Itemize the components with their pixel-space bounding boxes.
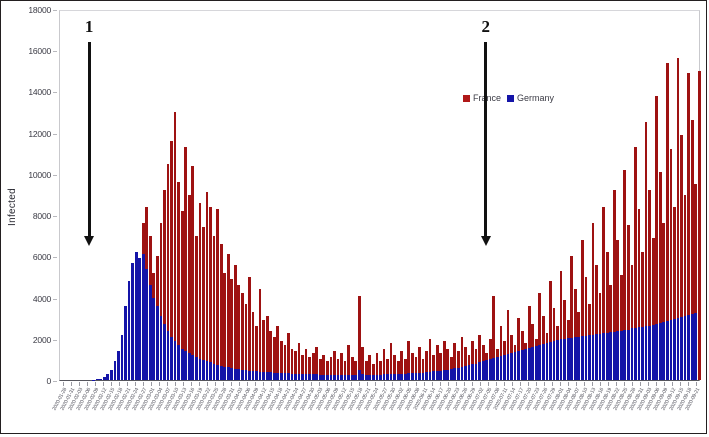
bar-germany [478,362,481,380]
bar-group [209,9,212,380]
bar-france [234,265,237,380]
x-tick-mark-icon [295,382,296,386]
bar-germany [96,379,99,380]
bar-group [581,9,584,380]
bar-germany [475,364,478,380]
bar-group [627,9,630,380]
bar-group [687,9,690,380]
bar-group [623,9,626,380]
bar-germany [634,328,637,380]
bar-group [163,9,166,380]
bar-germany [425,372,428,380]
bar-germany [595,334,598,380]
legend-swatch-germany-icon [507,95,514,102]
x-tick-mark-icon [576,382,577,386]
bar-group [110,9,113,380]
bar-germany [588,335,591,380]
x-tick-mark-icon [568,382,569,386]
plot-area: France Germany [59,10,700,381]
bar-group [631,9,634,380]
bar-group [376,9,379,380]
bar-group [588,9,591,380]
bar-germany [237,369,240,380]
bar-germany [234,369,237,380]
bar-group [255,9,258,380]
bar-group [659,9,662,380]
annotation-number: 1 [69,18,109,35]
bar-group [372,9,375,380]
bar-germany [206,361,209,380]
bar-group [407,9,410,380]
x-tick-mark-icon [624,382,625,386]
bar-germany [528,348,531,380]
bar-group [368,9,371,380]
bar-group [301,9,304,380]
y-tick-6000: 6000 [33,252,51,262]
bar-group [648,9,651,380]
bar-group [662,9,665,380]
bar-group [585,9,588,380]
bar-germany [549,342,552,380]
bar-germany [347,375,350,380]
x-tick-mark-icon [303,382,304,386]
bar-germany [266,372,269,380]
x-tick-mark-icon [95,382,96,386]
x-tick-mark-icon [656,382,657,386]
bar-germany [227,367,230,380]
bar-germany [248,371,251,380]
x-tick-mark-icon [512,382,513,386]
bar-group [595,9,598,380]
bar-group [691,9,694,380]
bar-group [670,9,673,380]
bar-group [284,9,287,380]
legend-item-germany: Germany [507,93,554,103]
bar-germany [269,372,272,380]
bar-group [160,9,163,380]
y-tick-mark-icon [53,216,57,217]
bar-germany [553,341,556,380]
bar-germany [273,373,276,380]
bar-germany [312,374,315,380]
bar-germany [592,335,595,380]
x-tick-mark-icon [135,382,136,386]
annotation-number: 2 [466,18,506,35]
bar-germany [252,371,255,380]
bar-germany [386,374,389,380]
bar-france [241,293,244,380]
x-tick-mark-icon [159,382,160,386]
y-tick-18000: 18000 [28,5,51,15]
bar-group [202,9,205,380]
bar-group [220,9,223,380]
bar-group [287,9,290,380]
x-tick-mark-icon [223,382,224,386]
bar-group [305,9,308,380]
bar-group [121,9,124,380]
bar-germany [241,370,244,380]
bar-group [142,9,145,380]
x-tick-mark-icon [600,382,601,386]
bar-france [199,203,202,380]
bar-germany [623,330,626,380]
bar-germany [209,362,212,380]
bar-group [528,9,531,380]
bar-group [680,9,683,380]
bar-germany [496,357,499,380]
bar-germany [156,306,159,380]
bar-group [546,9,549,380]
x-tick-mark-icon [239,382,240,386]
bar-germany [230,368,233,380]
bar-group [521,9,524,380]
bar-germany [446,370,449,380]
x-tick-mark-icon [215,382,216,386]
bar-group [351,9,354,380]
bar-germany [691,314,694,380]
bar-france [237,285,240,380]
bar-group [450,9,453,380]
x-tick-mark-icon [680,382,681,386]
bar-germany [170,337,173,380]
bar-germany [216,365,219,380]
x-tick-mark-icon [79,382,80,386]
bar-group [436,9,439,380]
bar-group [354,9,357,380]
bar-group [634,9,637,380]
bar-group [273,9,276,380]
bar-germany [142,254,145,380]
bar-group [549,9,552,380]
y-tick-2000: 2000 [33,335,51,345]
bar-group [337,9,340,380]
bar-group [259,9,262,380]
bar-germany [103,377,106,380]
bar-germany [199,359,202,380]
bar-group [234,9,237,380]
bar-group [641,9,644,380]
bar-group [613,9,616,380]
bar-group [167,9,170,380]
bar-group [276,9,279,380]
bar-germany [117,351,120,380]
x-tick-mark-icon [327,382,328,386]
bar-group [152,9,155,380]
bar-germany [344,375,347,380]
y-tick-16000: 16000 [28,46,51,56]
bar-germany [315,374,318,380]
x-tick-mark-icon [335,382,336,386]
bar-group [507,9,510,380]
bar-germany [365,375,368,380]
bar-group [538,9,541,380]
bar-group [397,9,400,380]
bar-group [213,9,216,380]
bar-germany [121,335,124,380]
bar-germany [531,347,534,380]
x-tick-mark-icon [199,382,200,386]
bar-france [248,277,251,380]
bar-germany [535,346,538,380]
x-tick-mark-icon [520,382,521,386]
bar-germany [259,372,262,380]
bar-germany [354,375,357,380]
bar-group [241,9,244,380]
x-tick-mark-icon [488,382,489,386]
bar-germany [666,321,669,380]
x-tick-mark-icon [71,382,72,386]
bar-group [609,9,612,380]
bar-france [698,71,701,380]
x-tick-mark-icon [271,382,272,386]
bar-germany [404,374,407,380]
bar-group [645,9,648,380]
bar-germany [457,368,460,380]
bar-germany [319,375,322,380]
bar-germany [492,358,495,380]
bar-group [245,9,248,380]
bar-group [684,9,687,380]
bar-group [461,9,464,380]
bar-group [400,9,403,380]
bar-germany [301,374,304,380]
bar-group [602,9,605,380]
annotation-marker-2: 2 [466,18,506,237]
bar-group [439,9,442,380]
bar-germany [521,350,524,380]
bar-group [60,9,63,380]
bar-group [616,9,619,380]
bar-germany [138,258,141,380]
bar-group [606,9,609,380]
bar-group [269,9,272,380]
bar-germany [220,366,223,380]
x-tick-mark-icon [127,382,128,386]
bar-france [227,254,230,380]
x-tick-mark-icon [287,382,288,386]
bar-germany [680,317,683,380]
bar-group [326,9,329,380]
bar-germany [322,375,325,380]
bar-group [655,9,658,380]
bar-group [677,9,680,380]
bar-germany [351,375,354,380]
bar-group [340,9,343,380]
bar-germany [163,324,166,380]
bar-germany [524,349,527,380]
bar-germany [627,330,630,380]
bar-france [209,207,212,380]
bar-germany [507,354,510,380]
bar-france [220,244,223,380]
bar-germany [149,285,152,380]
bar-france [259,289,262,380]
bar-germany [188,353,191,380]
bar-group [298,9,301,380]
bar-group [457,9,460,380]
bar-germany [262,372,265,380]
bar-germany [287,373,290,380]
bar-germany [577,337,580,380]
bar-group [280,9,283,380]
bar-germany [333,375,336,380]
bar-group [333,9,336,380]
bar-group [429,9,432,380]
infected-cases-bar-chart: Infected 0200040006000800010000120001400… [1,1,706,433]
bar-germany [429,372,432,380]
bar-germany [99,379,102,380]
bar-germany [418,373,421,380]
bar-germany [556,340,559,380]
x-tick-mark-icon [472,382,473,386]
bar-group [174,9,177,380]
bar-germany [390,374,393,380]
x-tick-mark-icon [279,382,280,386]
bar-group [294,9,297,380]
bar-group [64,9,67,380]
bar-group [124,9,127,380]
x-tick-mark-icon [648,382,649,386]
bar-germany [673,319,676,380]
bar-germany [471,364,474,380]
x-tick-mark-icon [592,382,593,386]
x-tick-mark-icon [480,382,481,386]
x-tick-mark-icon [231,382,232,386]
bar-france [223,273,226,380]
bar-group [443,9,446,380]
bar-group [524,9,527,380]
bar-germany [407,373,410,380]
bar-group [560,9,563,380]
y-tick-8000: 8000 [33,211,51,221]
bar-germany [255,371,258,380]
x-tick-mark-icon [696,382,697,386]
y-tick-mark-icon [53,92,57,93]
bar-germany [308,374,311,380]
bar-germany [245,370,248,380]
bar-germany [223,367,226,380]
bar-germany [110,370,113,380]
bar-germany [337,375,340,380]
bar-germany [500,356,503,380]
bar-germany [581,336,584,380]
bar-group [308,9,311,380]
bar-germany [376,375,379,380]
y-tick-10000: 10000 [28,170,51,180]
bar-group [599,9,602,380]
bar-group [510,9,513,380]
bar-group [262,9,265,380]
bar-germany [393,374,396,380]
bar-group [418,9,421,380]
bar-france [206,192,209,380]
down-arrow-icon [484,42,487,237]
bar-germany [503,355,506,380]
bar-germany [443,370,446,380]
bar-germany [439,371,442,380]
x-tick-mark-icon [207,382,208,386]
x-tick-mark-icon [552,382,553,386]
bar-germany [542,344,545,380]
bar-germany [461,367,464,380]
bar-germany [106,374,109,380]
bar-france [252,312,255,380]
bar-group [358,9,361,380]
bar-germany [411,373,414,380]
bar-group [514,9,517,380]
x-tick-mark-icon [544,382,545,386]
bar-group [135,9,138,380]
bar-germany [694,313,697,380]
bar-germany [379,375,382,380]
bar-france [245,304,248,380]
x-tick-mark-icon [143,382,144,386]
bar-group [227,9,230,380]
bar-group [567,9,570,380]
bar-germany [280,373,283,380]
bar-germany [514,352,517,380]
x-axis-tick-labels: 2020-01-282020-01-312020-02-032020-02-06… [59,387,700,435]
bar-group [563,9,566,380]
bar-france [191,166,194,380]
x-tick-mark-icon [151,382,152,386]
bar-group [620,9,623,380]
bar-germany [485,360,488,380]
bar-france [230,279,233,380]
bar-germany [124,306,127,380]
x-tick-mark-icon [496,382,497,386]
bar-france [184,147,187,380]
bar-group [156,9,159,380]
x-tick-mark-icon [536,382,537,386]
bar-germany [276,373,279,380]
x-tick-mark-icon [560,382,561,386]
y-tick-mark-icon [53,175,57,176]
bar-germany [670,320,673,380]
x-tick-mark-icon [263,382,264,386]
x-tick-mark-icon [247,382,248,386]
down-arrow-icon [88,42,91,237]
bar-france [213,236,216,380]
bar-germany [305,374,308,380]
bar-group [574,9,577,380]
bar-germany [167,331,170,380]
bar-group [237,9,240,380]
x-tick-mark-icon [63,382,64,386]
bar-germany [453,368,456,380]
bar-germany [358,370,361,380]
bar-germany [620,331,623,380]
x-tick-mark-icon [119,382,120,386]
x-tick-mark-icon [375,382,376,386]
bar-germany [616,331,619,380]
bar-germany [202,360,205,380]
bar-group [344,9,347,380]
x-tick-mark-icon [319,382,320,386]
bar-germany [128,281,131,380]
bar-germany [631,328,634,380]
bar-group [422,9,425,380]
bar-germany [181,349,184,380]
bar-germany [510,353,513,380]
bar-germany [567,338,570,380]
bar-germany [174,341,177,380]
y-tick-mark-icon [53,257,57,258]
x-tick-mark-icon [191,382,192,386]
x-tick-mark-icon [359,382,360,386]
y-tick-12000: 12000 [28,129,51,139]
bar-germany [291,374,294,380]
